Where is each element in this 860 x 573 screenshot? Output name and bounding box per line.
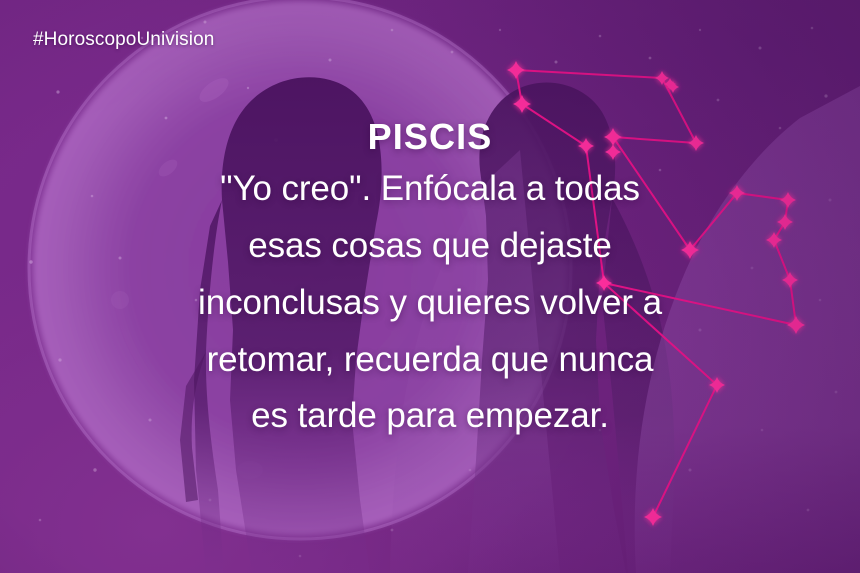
- sign-body-line-3: inconclusas y quieres volver a: [0, 275, 860, 332]
- constellation-star-2: [655, 71, 669, 85]
- sign-body-line-1: "Yo creo". Enfócala a todas: [0, 161, 860, 218]
- sign-body-line-2: esas cosas que dejaste: [0, 218, 860, 275]
- constellation-star-5: [513, 95, 531, 113]
- sign-body-line-4: retomar, recuerda que nunca: [0, 332, 860, 389]
- hashtag-label: #HoroscopoUnivision: [33, 29, 214, 51]
- sign-title: PISCIS: [0, 116, 860, 158]
- sign-body-line-5: es tarde para empezar.: [0, 388, 860, 445]
- constellation-star-1: [507, 61, 525, 79]
- constellation-star-19: [644, 508, 662, 526]
- horoscope-card: #HoroscopoUnivision PISCIS "Yo creo". En…: [0, 0, 860, 573]
- sign-body-text: "Yo creo". Enfócala a todasesas cosas qu…: [0, 161, 860, 444]
- horoscope-copy: PISCIS "Yo creo". Enfócala a todasesas c…: [0, 116, 860, 445]
- constellation-line: [516, 70, 522, 104]
- constellation-star-4: [667, 81, 679, 93]
- constellation-star-3: [664, 78, 676, 90]
- constellation-line: [516, 70, 662, 78]
